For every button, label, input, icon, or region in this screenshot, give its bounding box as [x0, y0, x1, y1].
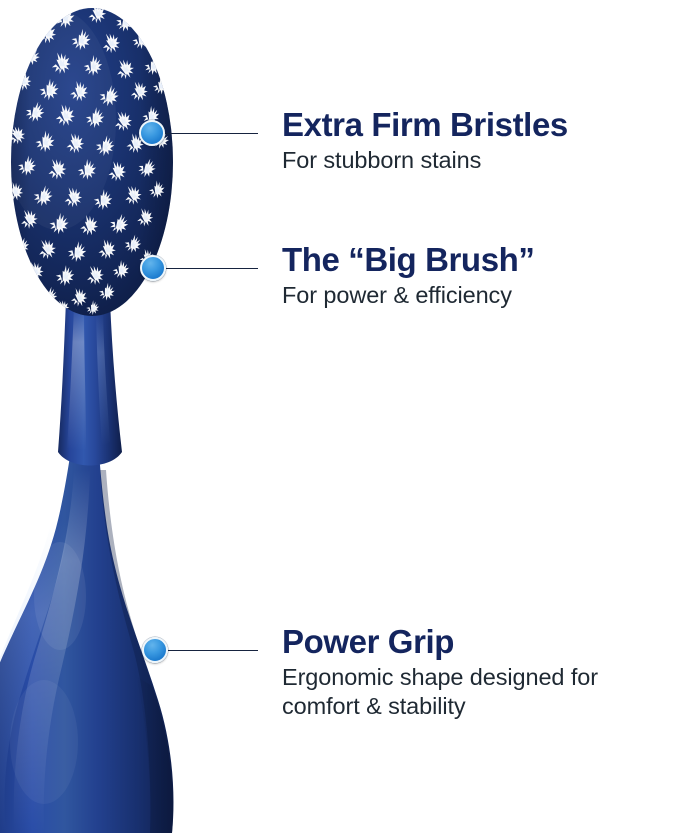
grip-specular	[34, 542, 86, 650]
callout-line-extra-firm-bristles	[165, 133, 258, 134]
callout-dot-extra-firm-bristles[interactable]	[139, 120, 165, 146]
callout-subtitle: For power & efficiency	[282, 281, 535, 310]
callout-label-extra-firm-bristles: Extra Firm Bristles For stubborn stains	[282, 108, 568, 175]
callout-title: Extra Firm Bristles	[282, 108, 568, 143]
callout-dot-power-grip[interactable]	[142, 637, 168, 663]
callout-title: The “Big Brush”	[282, 243, 535, 278]
callout-label-power-grip: Power Grip Ergonomic shape designed for …	[282, 625, 677, 720]
callout-line-power-grip	[168, 650, 258, 651]
callout-subtitle: For stubborn stains	[282, 146, 568, 175]
callout-subtitle: Ergonomic shape designed for comfort & s…	[282, 663, 677, 720]
callout-line-the-big-brush	[166, 268, 258, 269]
infographic-canvas: Extra Firm Bristles For stubborn stains …	[0, 0, 679, 833]
callout-dot-the-big-brush[interactable]	[140, 255, 166, 281]
callout-title: Power Grip	[282, 625, 677, 660]
grip-specular-lower	[10, 680, 78, 804]
callout-label-the-big-brush: The “Big Brush” For power & efficiency	[282, 243, 535, 310]
